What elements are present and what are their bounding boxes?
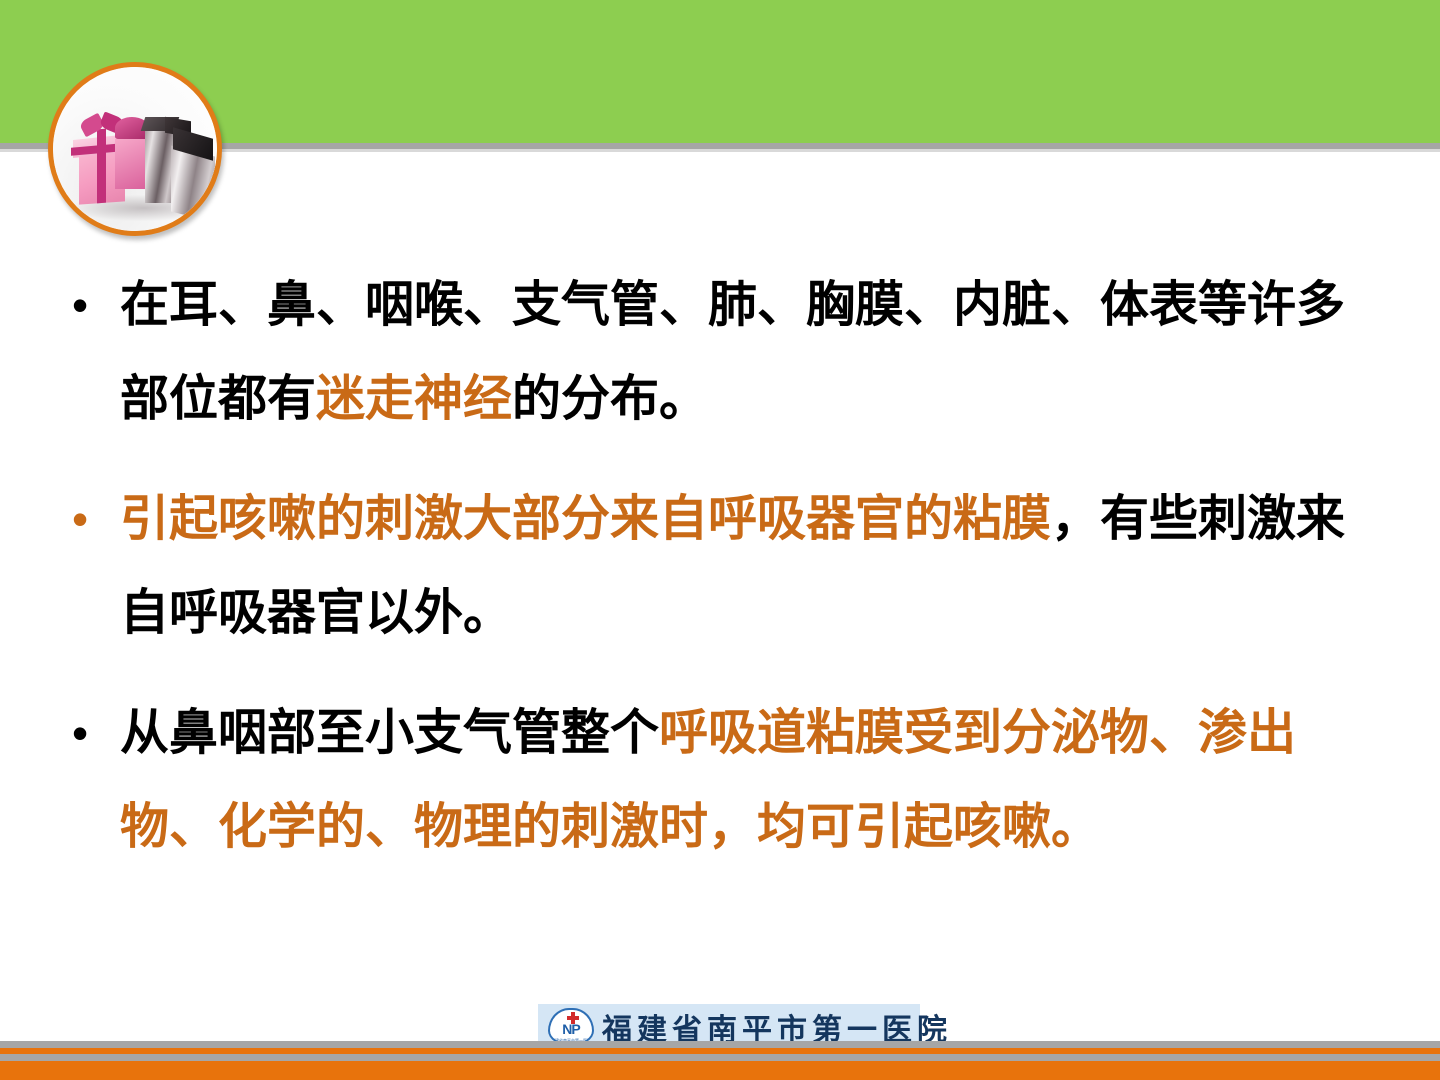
bullet-marker-3: • [62, 686, 120, 780]
bullet-marker-1: • [62, 258, 120, 352]
pink-gift-ribbon-vertical [97, 129, 106, 204]
bullet-2-segment-1-highlight: 引起咳嗽的刺激大部分来自呼吸器官的粘膜 [120, 490, 1051, 547]
footer-band-orange-thick [0, 1061, 1440, 1080]
bullet-1-segment-3: 的分布。 [512, 370, 708, 427]
bullet-text-2: 引起咳嗽的刺激大部分来自呼吸器官的粘膜，有些刺激来自呼吸器官以外。 [120, 472, 1392, 660]
gift-photo-image [53, 67, 217, 231]
np-monogram: NP [550, 1022, 592, 1036]
bullet-item-1: • 在耳、鼻、咽喉、支气管、肺、胸膜、内脏、体表等许多部位都有迷走神经的分布。 [62, 258, 1392, 446]
gift-photo-badge [48, 62, 222, 236]
bullet-item-3: • 从鼻咽部至小支气管整个呼吸道粘膜受到分泌物、渗出物、化学的、物理的刺激时，均… [62, 686, 1392, 874]
bullet-text-1: 在耳、鼻、咽喉、支气管、肺、胸膜、内脏、体表等许多部位都有迷走神经的分布。 [120, 258, 1392, 446]
slide-root: • 在耳、鼻、咽喉、支气管、肺、胸膜、内脏、体表等许多部位都有迷走神经的分布。 … [0, 0, 1440, 1080]
bullet-item-2: • 引起咳嗽的刺激大部分来自呼吸器官的粘膜，有些刺激来自呼吸器官以外。 [62, 472, 1392, 660]
magenta-gift-box [115, 139, 149, 189]
bullet-3-segment-1: 从鼻咽部至小支气管整个 [120, 704, 659, 761]
footer-band-gray-top [0, 1041, 1440, 1048]
bullet-1-segment-2-highlight: 迷走神经 [316, 370, 512, 427]
bullet-text-3: 从鼻咽部至小支气管整个呼吸道粘膜受到分泌物、渗出物、化学的、物理的刺激时，均可引… [120, 686, 1392, 874]
bullet-1-segment-1: 在耳、鼻、咽喉、支气管、肺、胸膜、内脏、体表等许多部位都有 [120, 276, 1345, 427]
footer-band-gray-bottom [0, 1054, 1440, 1061]
bullet-list: • 在耳、鼻、咽喉、支气管、肺、胸膜、内脏、体表等许多部位都有迷走神经的分布。 … [62, 258, 1392, 900]
red-cross-icon-horizontal [567, 1016, 579, 1020]
bullet-marker-2: • [62, 472, 120, 566]
